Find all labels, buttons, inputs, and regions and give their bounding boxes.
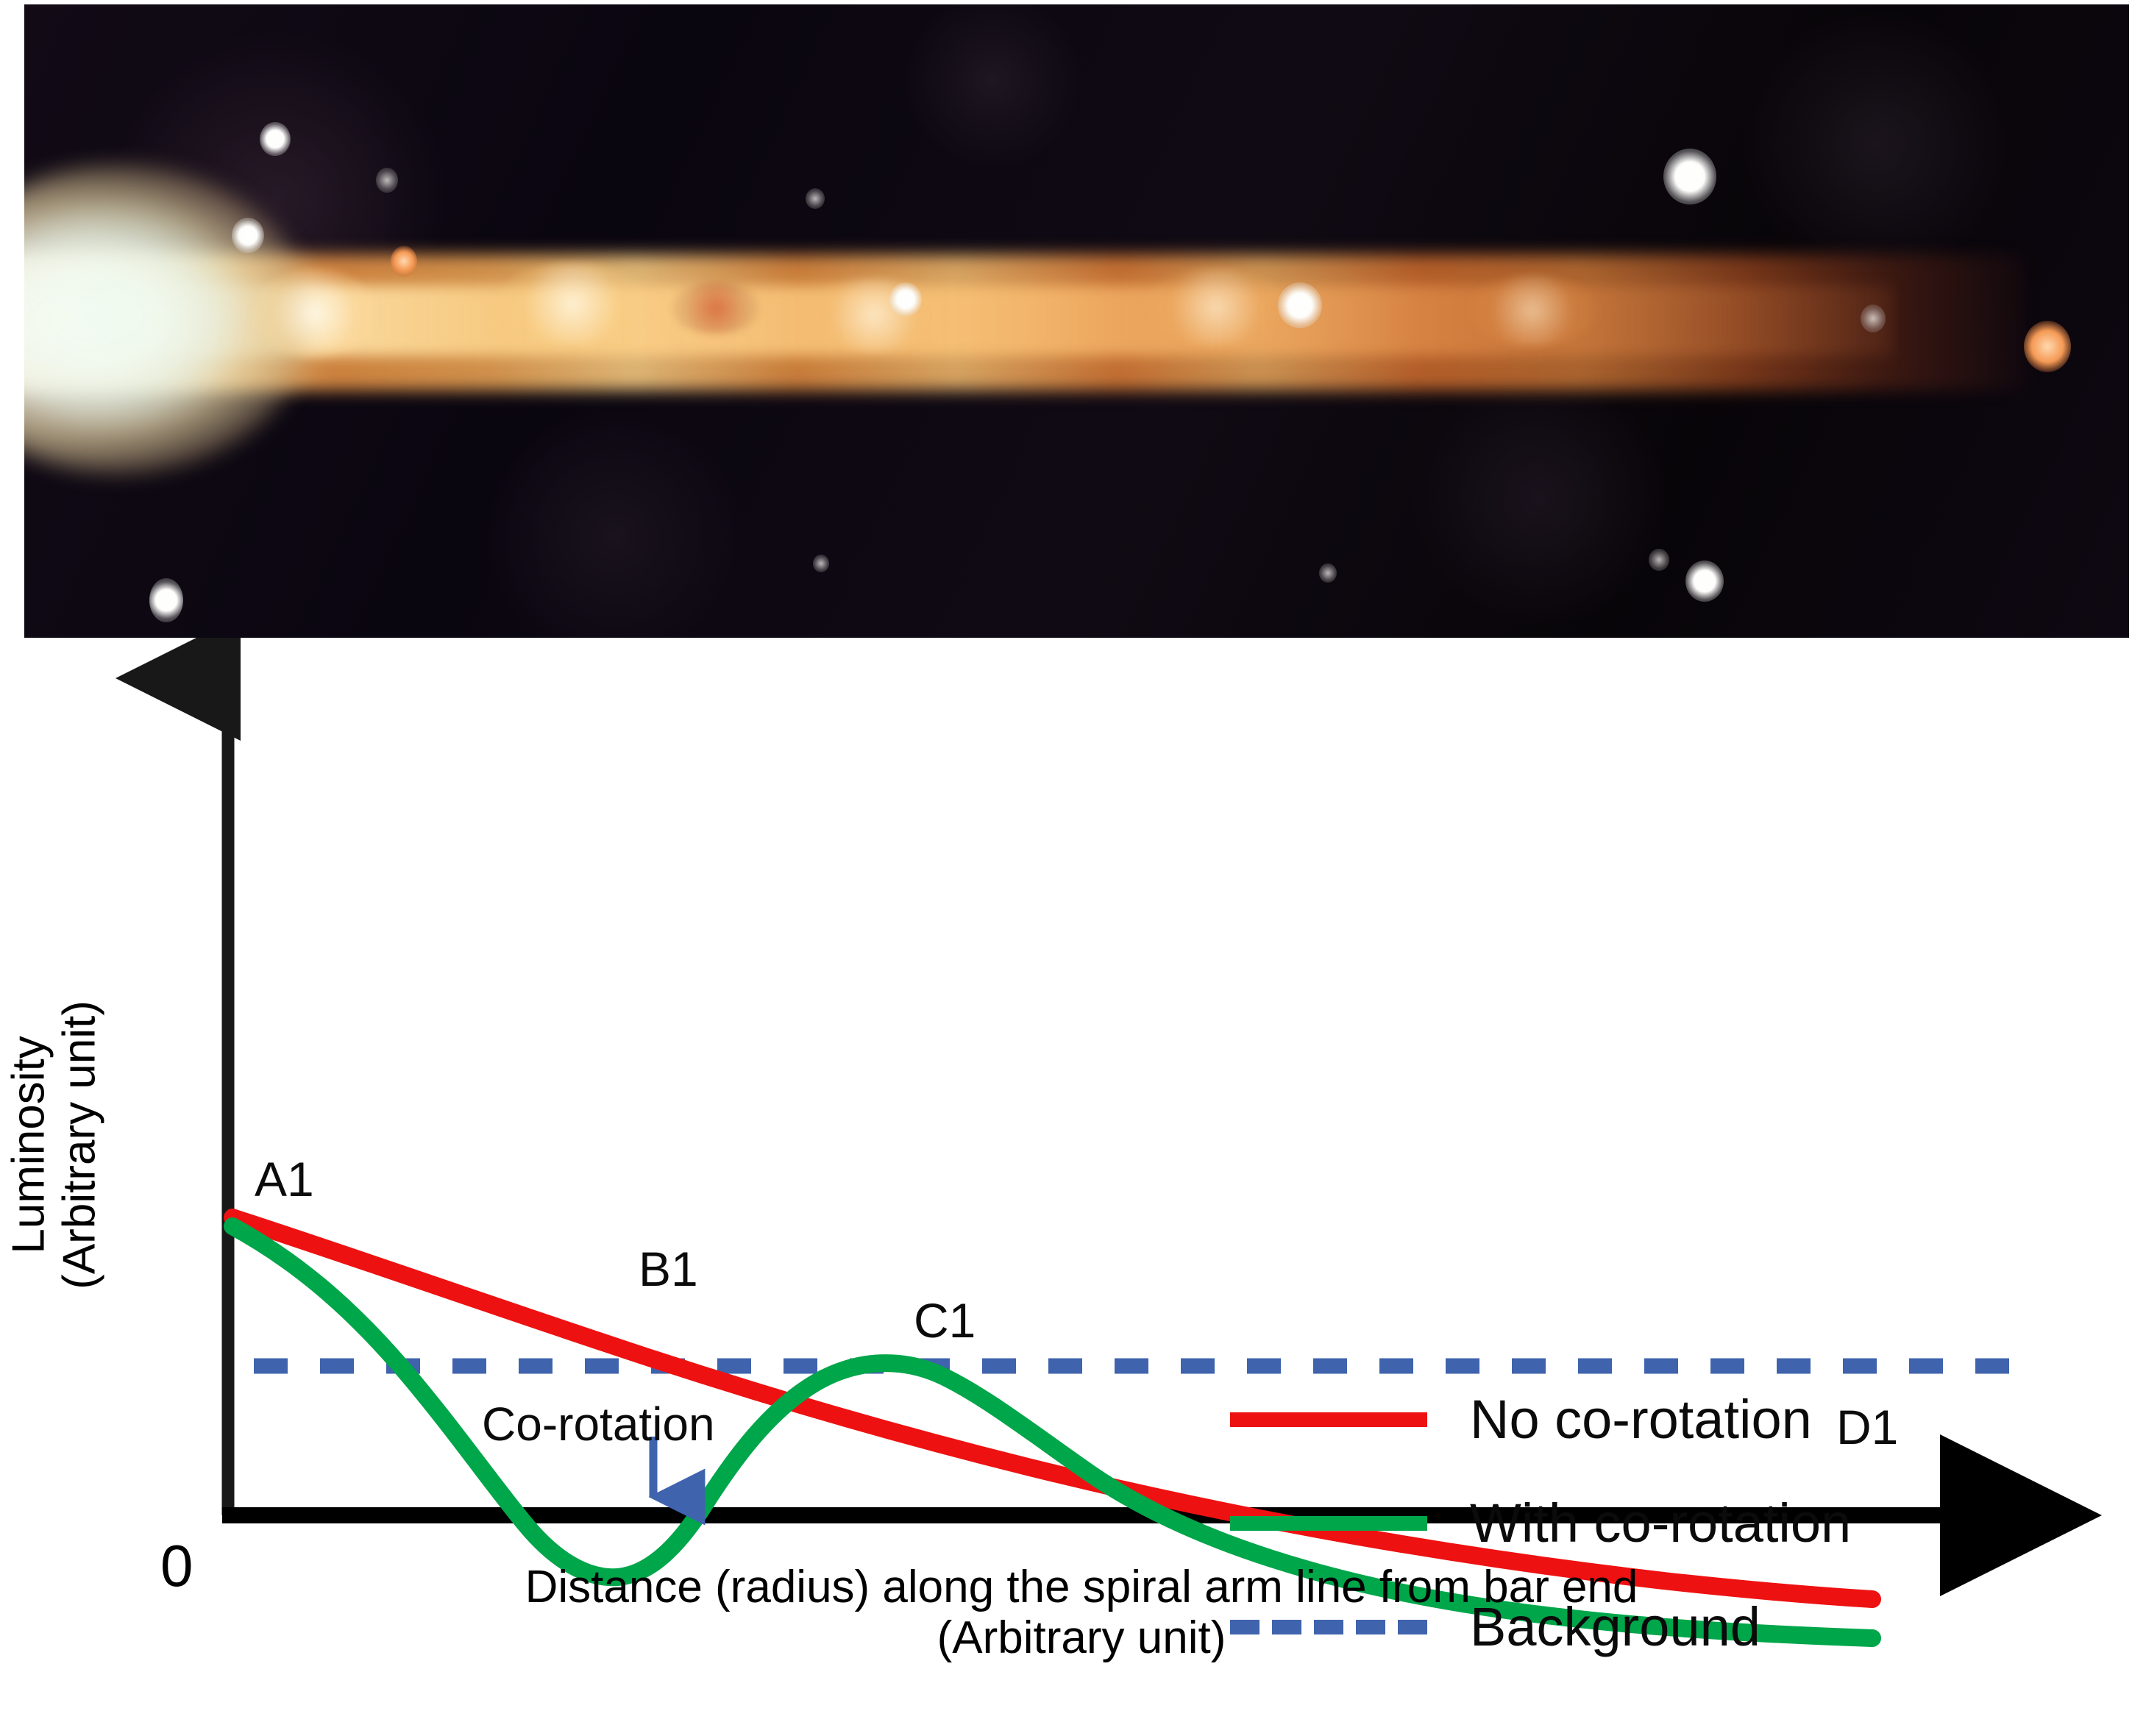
legend-label-background: Background [1470,1596,1760,1658]
arm-knot [1466,275,1599,346]
foreground-star [391,246,417,277]
foreground-star [1685,561,1724,602]
foreground-star [2024,321,2071,372]
foreground-star [1861,305,1886,332]
y-axis-label-line-2: (Arbitrary unit) [54,917,105,1373]
legend-swatch-dashed-blue [1230,1620,1427,1634]
legend-item-background[interactable]: Background [1230,1596,1851,1658]
galaxy-image-panel [24,4,2129,638]
legend-item-no-corotation[interactable]: No co-rotation [1230,1388,1851,1451]
luminosity-profile-chart: Luminosity (Arbitrary unit) Distance (ra… [0,638,2146,1736]
y-axis-label-line-1: Luminosity [4,917,54,1373]
annotation-co-rotation: Co-rotation [482,1397,715,1451]
foreground-star [806,188,825,209]
foreground-star [889,282,922,316]
arm-knot [495,263,650,344]
arm-dust-lane [672,282,760,334]
foreground-star [1663,149,1716,204]
annotation-a1: A1 [255,1151,314,1207]
foreground-star [1319,563,1337,583]
arm-knot [1143,269,1290,346]
annotation-c1: C1 [914,1292,976,1348]
foreground-star [1649,549,1669,571]
figure-root: Luminosity (Arbitrary unit) Distance (ra… [0,0,2146,1736]
foreground-star [232,218,264,253]
legend-swatch-solid-green [1230,1516,1427,1531]
foreground-star [149,578,183,622]
foreground-star [813,555,829,572]
legend-label-no-corotation: No co-rotation [1470,1388,1812,1451]
foreground-star [376,168,398,193]
arm-knot [252,269,377,357]
y-axis-label: Luminosity (Arbitrary unit) [4,917,106,1373]
foreground-star [1278,282,1322,328]
annotation-b1: B1 [639,1241,698,1297]
arm-knot [804,278,944,352]
legend-item-with-corotation[interactable]: With co-rotation [1230,1492,1851,1554]
legend-label-with-corotation: With co-rotation [1470,1492,1851,1554]
foreground-star [260,122,291,156]
legend-swatch-solid-red [1230,1412,1427,1427]
chart-legend: No co-rotation With co-rotation Backgrou… [1230,1388,1851,1658]
origin-label: 0 [160,1532,193,1600]
